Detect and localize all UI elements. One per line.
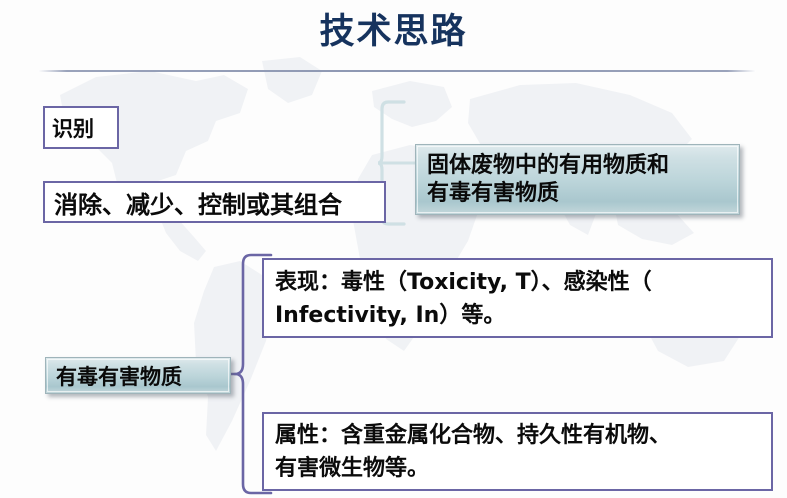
attribute-line-2: 有害微生物等。: [275, 452, 771, 485]
page-title: 技术思路: [0, 8, 787, 56]
toxic-harmful-substance-box[interactable]: 有毒有害物质: [45, 357, 231, 394]
title-divider: [38, 70, 756, 72]
eliminate-label: 消除、减少、控制或其组合: [54, 185, 342, 220]
manifestation-line-2: Infectivity, In）等。: [275, 299, 771, 332]
attribute-box[interactable]: 属性：含重金属化合物、持久性有机物、 有害微生物等。: [262, 412, 773, 491]
solid-waste-substances-box[interactable]: 固体废物中的有用物质和 有毒有害物质: [415, 144, 740, 215]
toxic-substance-label: 有毒有害物质: [56, 361, 182, 391]
solid-waste-line-1: 固体废物中的有用物质和: [427, 152, 739, 180]
identify-label: 识别: [52, 113, 94, 143]
eliminate-reduce-control-box[interactable]: 消除、减少、控制或其组合: [43, 181, 386, 223]
solid-waste-line-2: 有毒有害物质: [427, 180, 739, 208]
attribute-line-1: 属性：含重金属化合物、持久性有机物、: [275, 419, 771, 452]
identify-box[interactable]: 识别: [43, 106, 119, 149]
manifestation-box[interactable]: 表现：毒性（Toxicity, T）、感染性（ Infectivity, In）…: [262, 258, 773, 338]
slide-canvas: 技术思路 识别 消除、减少、控制或其组合 固体废物中的有用物质和 有毒有害物质 …: [0, 0, 787, 498]
manifestation-line-1: 表现：毒性（Toxicity, T）、感染性（: [275, 266, 771, 299]
